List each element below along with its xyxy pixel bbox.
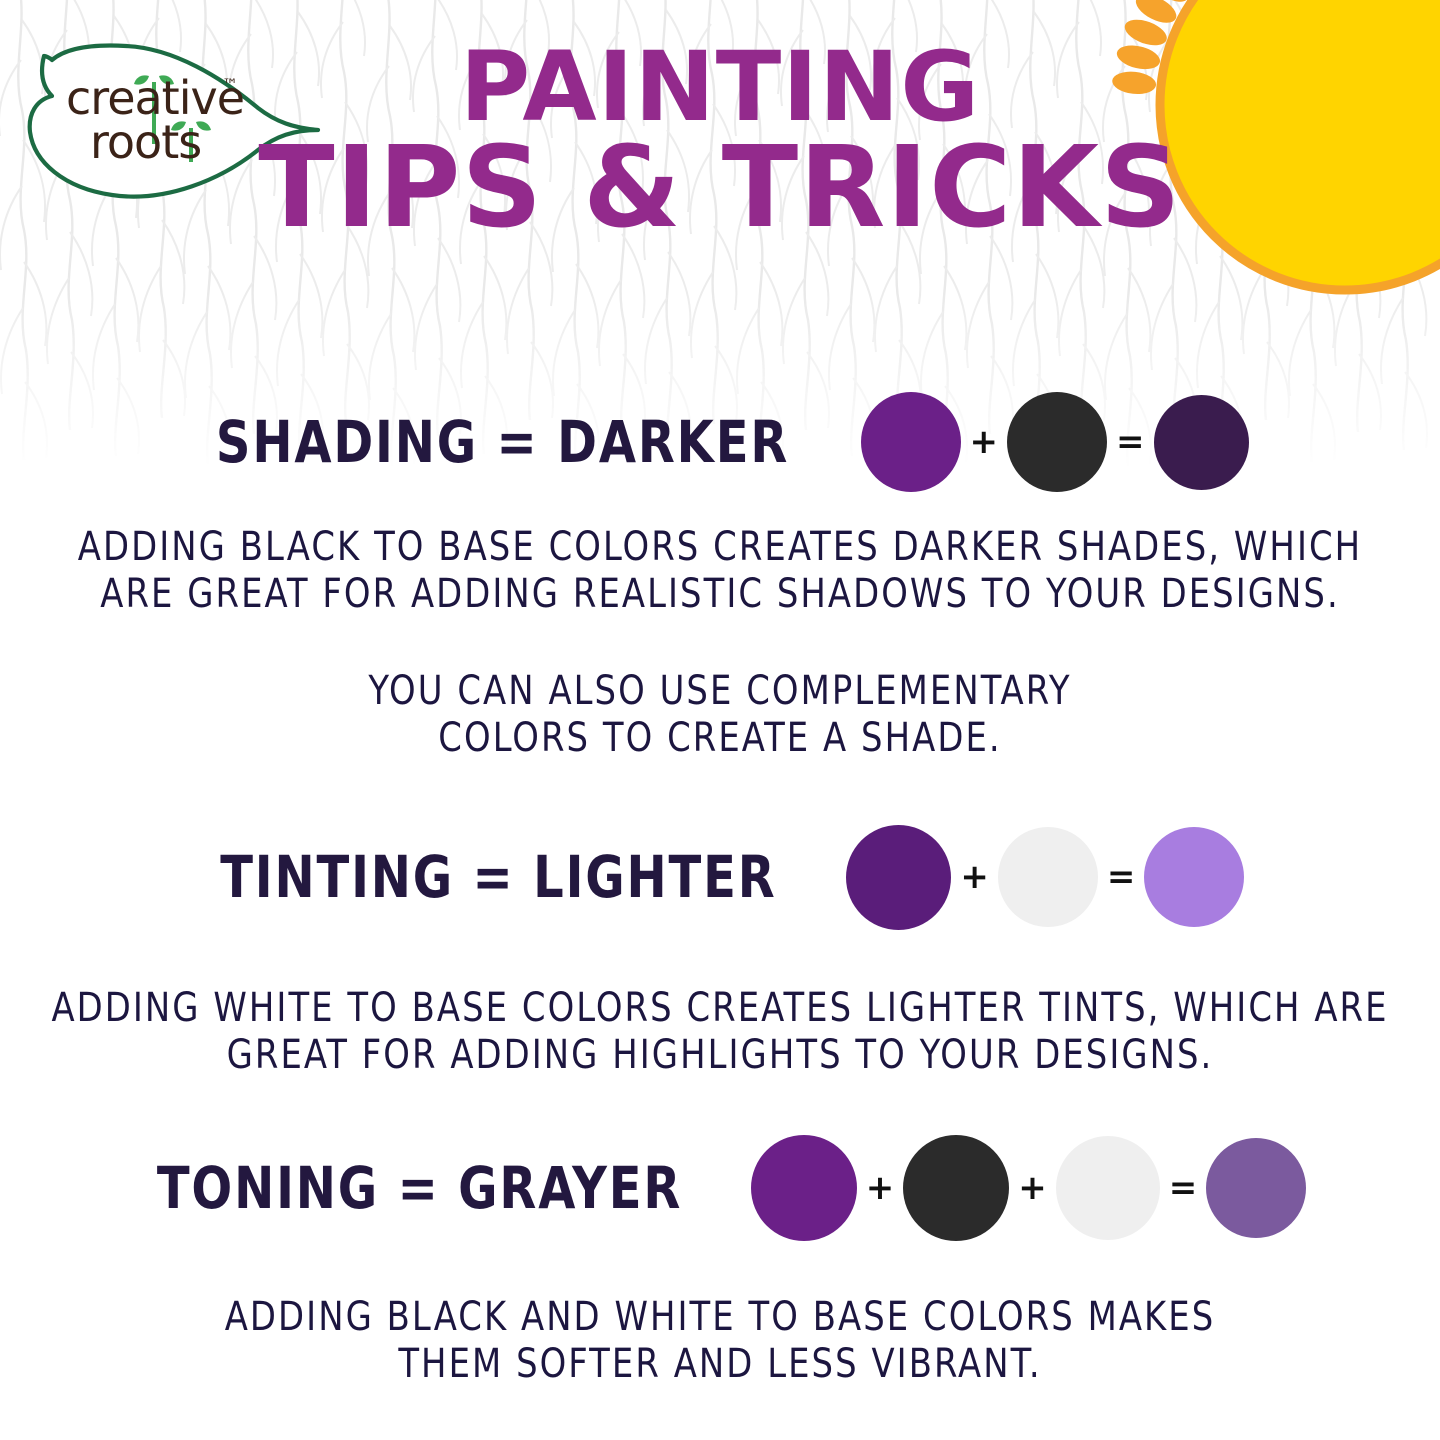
- paragraph-tinting: ADDING WHITE TO BASE COLORS CREATES LIGH…: [43, 985, 1397, 1079]
- infographic-page: creative roots ™ PAINTING TIPS & TRICKS …: [0, 0, 1440, 1440]
- paragraph-toning: ADDING BLACK AND WHITE TO BASE COLORS MA…: [43, 1294, 1397, 1388]
- plus-operator: +: [1018, 1171, 1047, 1205]
- equals-operator: =: [1169, 1171, 1198, 1205]
- base-color-swatch: [861, 392, 961, 492]
- swatch-group-toning: + + =: [751, 1135, 1307, 1241]
- white-swatch: [1056, 1136, 1160, 1240]
- tone-result-swatch: [1206, 1138, 1306, 1238]
- paragraph-shading-primary: ADDING BLACK TO BASE COLORS CREATES DARK…: [43, 524, 1397, 618]
- equals-operator: =: [1107, 860, 1136, 894]
- section-tinting-header: TINTING = LIGHTER + =: [0, 822, 1440, 932]
- swatch-group-shading: + =: [861, 392, 1249, 492]
- paragraph-line: GREAT FOR ADDING HIGHLIGHTS TO YOUR DESI…: [43, 1032, 1397, 1079]
- paragraph-line: COLORS TO CREATE A SHADE.: [43, 715, 1397, 762]
- section-shading-header: SHADING = DARKER + =: [0, 392, 1440, 492]
- heading-toning: TONING = GRAYER: [157, 1154, 682, 1222]
- page-title: PAINTING TIPS & TRICKS: [0, 42, 1440, 242]
- swatch-group-tinting: + =: [846, 825, 1244, 930]
- paragraph-line: ARE GREAT FOR ADDING REALISTIC SHADOWS T…: [43, 571, 1397, 618]
- tint-result-swatch: [1144, 827, 1244, 927]
- black-swatch: [1007, 392, 1107, 492]
- paragraph-shading-complementary: YOU CAN ALSO USE COMPLEMENTARY COLORS TO…: [43, 668, 1397, 762]
- black-swatch: [903, 1135, 1009, 1241]
- paragraph-line: ADDING BLACK TO BASE COLORS CREATES DARK…: [43, 524, 1397, 571]
- title-line-painting: PAINTING: [0, 42, 1440, 132]
- heading-shading: SHADING = DARKER: [216, 408, 789, 476]
- shade-result-swatch: [1154, 395, 1249, 490]
- title-line-tips-and-tricks: TIPS & TRICKS: [0, 136, 1440, 241]
- section-toning-header: TONING = GRAYER + + =: [0, 1128, 1440, 1248]
- plus-operator: +: [866, 1171, 895, 1205]
- plus-operator: +: [970, 425, 999, 459]
- heading-tinting: TINTING = LIGHTER: [220, 843, 776, 911]
- paragraph-line: ADDING WHITE TO BASE COLORS CREATES LIGH…: [43, 985, 1397, 1032]
- base-color-swatch: [846, 825, 951, 930]
- paragraph-line: ADDING BLACK AND WHITE TO BASE COLORS MA…: [43, 1294, 1397, 1341]
- paragraph-line: YOU CAN ALSO USE COMPLEMENTARY: [43, 668, 1397, 715]
- plus-operator: +: [960, 860, 989, 894]
- base-color-swatch: [751, 1135, 857, 1241]
- white-swatch: [998, 827, 1098, 927]
- equals-operator: =: [1116, 425, 1145, 459]
- paragraph-line: THEM SOFTER AND LESS VIBRANT.: [43, 1341, 1397, 1388]
